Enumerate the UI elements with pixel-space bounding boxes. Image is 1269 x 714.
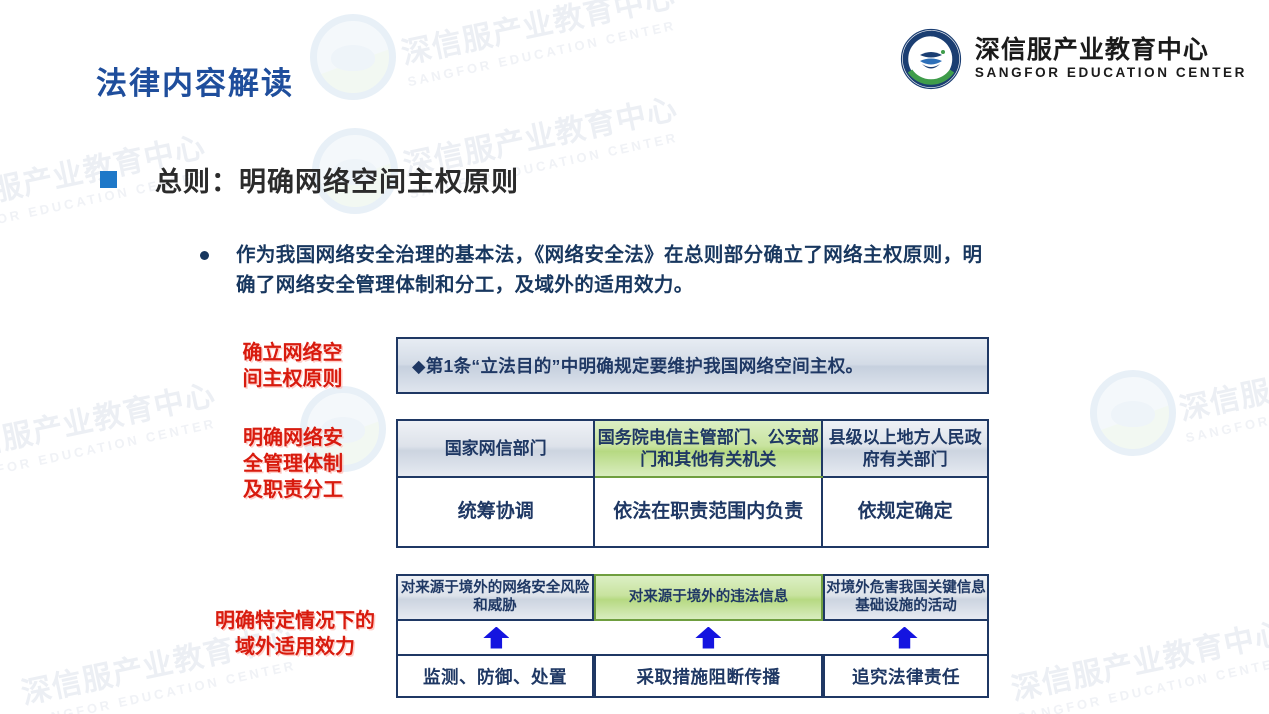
brand-name-cn: 深信服产业教育中心 — [975, 36, 1247, 65]
up-arrow-icon — [695, 627, 721, 649]
table-header-cell: 国家网信部门 — [397, 420, 594, 477]
body-paragraph: 作为我国网络安全治理的基本法，《网络安全法》在总则部分确立了网络主权原则，明确了… — [200, 240, 990, 300]
caption-establish-sovereignty: 确立网络空 间主权原则 — [205, 340, 380, 392]
blue-square-bullet-icon — [100, 171, 117, 188]
arrow-cell — [398, 621, 595, 654]
table-row-headers: 国家网信部门 国务院电信主管部门、公安部门和其他有关机关 县级以上地方人民政府有… — [397, 420, 988, 477]
brand-name-en: SANGFOR EDUCATION CENTER — [975, 64, 1247, 82]
diagram-block-authorities-table: 国家网信部门 国务院电信主管部门、公安部门和其他有关机关 县级以上地方人民政府有… — [396, 419, 989, 548]
measure-cell: 追究法律责任 — [823, 654, 989, 698]
table-row-values: 统筹协调 依法在职责范围内负责 依规定确定 — [397, 477, 988, 547]
watermark-text: 深信服产业教育中心 SANGFOR EDUCATION CENTER — [397, 0, 683, 89]
watermark-text: 深信服产业教育中心 SANGFOR EDUCATION CENTER — [1007, 608, 1269, 714]
round-bullet-icon — [200, 251, 209, 260]
page-title: 法律内容解读 — [96, 58, 294, 103]
measure-cell: 采取措施阻断传播 — [594, 654, 823, 698]
scenario-cell: 对来源于境外的违法信息 — [594, 574, 823, 621]
arrow-row — [396, 621, 989, 654]
brand-text: 深信服产业教育中心 SANGFOR EDUCATION CENTER — [975, 36, 1247, 83]
diagram: ◆第1条“立法目的”中明确规定要维护我国网络空间主权。 国家网信部门 国务院电信… — [396, 337, 989, 698]
diagram-block-article1: ◆第1条“立法目的”中明确规定要维护我国网络空间主权。 — [396, 337, 989, 394]
arrow-cell — [822, 621, 987, 654]
watermark-text: 深信服产业教育中心 SANGFOR EDUCATION CENTER — [0, 370, 222, 488]
caption-management-system: 明确网络安 全管理体制 及职责分工 — [203, 425, 383, 503]
extraterritorial-scenarios-row: 对来源于境外的网络安全风险和威胁 对来源于境外的违法信息 对境外危害我国关键信息… — [396, 574, 989, 621]
up-arrow-icon — [892, 627, 918, 649]
diagram-block-extraterritorial: 对来源于境外的网络安全风险和威胁 对来源于境外的违法信息 对境外危害我国关键信息… — [396, 574, 989, 698]
sangfor-circular-emblem-icon — [900, 28, 962, 90]
diagram-block-article1-text: ◆第1条“立法目的”中明确规定要维护我国网络空间主权。 — [398, 353, 863, 378]
extraterritorial-measures-row: 监测、防御、处置 采取措施阻断传播 追究法律责任 — [396, 654, 989, 698]
brand-logo: 深信服产业教育中心 SANGFOR EDUCATION CENTER — [900, 28, 1247, 90]
section-heading: 总则：明确网络空间主权原则 — [100, 160, 519, 199]
measure-cell: 监测、防御、处置 — [396, 654, 594, 698]
section-heading-label: 总则：明确网络空间主权原则 — [155, 160, 519, 199]
authorities-table: 国家网信部门 国务院电信主管部门、公安部门和其他有关机关 县级以上地方人民政府有… — [396, 419, 989, 548]
slide-canvas: 深信服产业教育中心 SANGFOR EDUCATION CENTER 深信服产业… — [0, 0, 1269, 714]
table-header-cell: 国务院电信主管部门、公安部门和其他有关机关 — [594, 420, 822, 477]
watermark-logo-icon — [1090, 370, 1176, 456]
caption-extraterritorial-effect: 明确特定情况下的 域外适用效力 — [190, 608, 400, 660]
watermark-text: 深信服产业教育中心 SANGFOR EDUCATION CENTER — [1175, 328, 1269, 446]
table-header-cell: 县级以上地方人民政府有关部门 — [822, 420, 988, 477]
table-body-cell: 依规定确定 — [822, 477, 988, 547]
watermark-logo-icon — [310, 14, 396, 100]
arrow-cell — [595, 621, 822, 654]
scenario-cell: 对来源于境外的网络安全风险和威胁 — [396, 574, 594, 621]
table-body-cell: 依法在职责范围内负责 — [594, 477, 822, 547]
up-arrow-icon — [483, 627, 509, 649]
scenario-cell: 对境外危害我国关键信息基础设施的活动 — [823, 574, 989, 621]
body-paragraph-text: 作为我国网络安全治理的基本法，《网络安全法》在总则部分确立了网络主权原则，明确了… — [236, 240, 990, 300]
table-body-cell: 统筹协调 — [397, 477, 594, 547]
